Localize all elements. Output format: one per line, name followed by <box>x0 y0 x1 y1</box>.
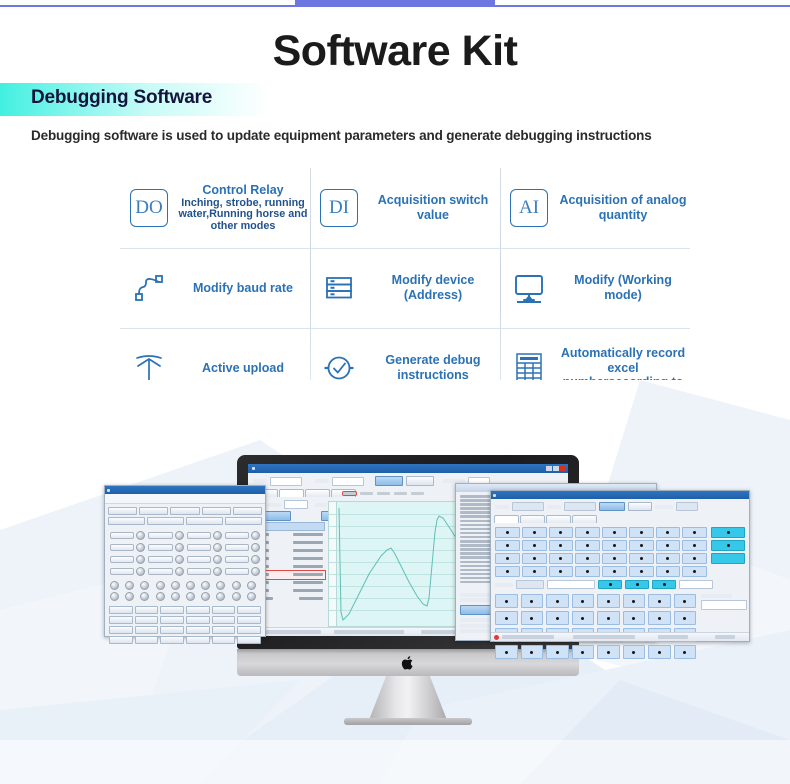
knob-control[interactable] <box>201 592 210 601</box>
mode-read-button[interactable] <box>625 580 649 589</box>
legend-entry[interactable] <box>394 492 407 495</box>
relay-button[interactable] <box>602 566 627 577</box>
window-statusbar <box>491 632 749 641</box>
knob-control[interactable] <box>136 543 145 552</box>
relay-button[interactable] <box>575 540 600 551</box>
server-stack-icon <box>310 271 368 305</box>
relay-button[interactable] <box>522 540 547 551</box>
form-button[interactable] <box>237 636 261 644</box>
switch-indicator[interactable] <box>521 594 544 608</box>
section-banner-label: Debugging Software <box>31 87 212 109</box>
form-button[interactable] <box>186 626 210 634</box>
di-badge-icon: DI <box>310 189 368 227</box>
knob-control[interactable] <box>175 531 184 540</box>
form-button[interactable] <box>109 636 133 644</box>
knob-control[interactable] <box>136 555 145 564</box>
toolbar-button[interactable] <box>139 507 168 515</box>
knob-control[interactable] <box>251 555 260 564</box>
relay-button[interactable] <box>629 553 654 564</box>
knob-control[interactable] <box>232 592 241 601</box>
do-badge-icon: DO <box>120 189 178 227</box>
knob-control[interactable] <box>251 567 260 576</box>
relay-output-section <box>491 524 749 577</box>
legend-entry[interactable] <box>360 492 373 495</box>
switch-indicator[interactable] <box>597 645 620 659</box>
feature-cell-modify-working-mode[interactable]: Modify (Working mode) <box>500 248 690 328</box>
status-company-text <box>259 630 321 634</box>
switch-indicator[interactable] <box>521 611 544 625</box>
form-button[interactable] <box>212 616 236 624</box>
form-button[interactable] <box>186 616 210 624</box>
legend-entry[interactable] <box>411 492 424 495</box>
titlebar-icon <box>107 489 110 492</box>
window-titlebar[interactable] <box>491 491 749 499</box>
relay-button[interactable] <box>575 527 600 538</box>
relay-button[interactable] <box>682 566 707 577</box>
knob-control[interactable] <box>136 531 145 540</box>
form-button[interactable] <box>186 636 210 644</box>
knob-control[interactable] <box>175 567 184 576</box>
knob-control[interactable] <box>213 531 222 540</box>
switch-indicator[interactable] <box>674 611 697 625</box>
knob-control[interactable] <box>216 581 225 590</box>
switch-input-section <box>491 592 749 661</box>
form-button[interactable] <box>135 636 159 644</box>
knob-control[interactable] <box>156 581 165 590</box>
status-indicator-icon <box>494 635 499 640</box>
feature-cell-acquisition-analog[interactable]: AI Acquisition of analog quantity <box>500 168 690 248</box>
form-button[interactable] <box>160 636 184 644</box>
knob-control[interactable] <box>213 555 222 564</box>
maximize-button[interactable] <box>553 466 559 471</box>
knob-control[interactable] <box>247 581 256 590</box>
switch-indicator[interactable] <box>674 645 697 659</box>
switch-indicator[interactable] <box>623 594 646 608</box>
switch-input-grid[interactable] <box>495 594 696 659</box>
baud-rate-curve-icon <box>120 271 178 305</box>
relay-button[interactable] <box>656 527 681 538</box>
refresh-button[interactable] <box>711 553 745 564</box>
relay-knob-grid-lower[interactable] <box>105 579 265 603</box>
status-company-text <box>502 635 554 639</box>
all-off-button[interactable] <box>711 540 745 551</box>
window-titlebar[interactable] <box>105 486 265 494</box>
section-subtitle: Debugging software is used to update equ… <box>31 128 652 143</box>
toolbar-button[interactable] <box>202 507 231 515</box>
top-accent-rule-thick <box>295 0 495 7</box>
knob-control[interactable] <box>110 592 119 601</box>
legend-entry-selected[interactable] <box>343 492 356 495</box>
knob-control[interactable] <box>251 543 260 552</box>
status-progress <box>334 630 404 634</box>
switch-indicator[interactable] <box>648 645 671 659</box>
form-button[interactable] <box>160 616 184 624</box>
port-select[interactable] <box>512 502 544 511</box>
knob-control[interactable] <box>171 592 180 601</box>
legend-entry[interactable] <box>377 492 390 495</box>
address-field[interactable] <box>676 502 698 511</box>
tab-analog-input[interactable] <box>546 515 571 523</box>
mode-save-button[interactable] <box>652 580 676 589</box>
relay-button[interactable] <box>656 553 681 564</box>
knob-control[interactable] <box>175 543 184 552</box>
monitor-stand-foot <box>344 718 472 725</box>
feature-label-modify-baud-rate: Modify baud rate <box>178 281 310 296</box>
form-button[interactable] <box>109 626 133 634</box>
tab-analog-input[interactable] <box>279 489 304 497</box>
panel-tabs[interactable] <box>491 514 749 524</box>
feature-label-active-upload: Active upload <box>178 361 310 376</box>
knob-control[interactable] <box>232 581 241 590</box>
feature-label-modify-working-mode: Modify (Working mode) <box>558 273 690 303</box>
knob-control[interactable] <box>201 581 210 590</box>
close-port-button[interactable] <box>406 476 434 486</box>
toolbar-button[interactable] <box>233 507 262 515</box>
knob-control[interactable] <box>251 531 260 540</box>
feature-cell-acquisition-switch-value[interactable]: DI Acquisition switch value <box>310 168 500 248</box>
toolbar-button[interactable] <box>108 517 145 525</box>
switch-indicator[interactable] <box>572 611 595 625</box>
knob-control[interactable] <box>186 581 195 590</box>
config-section-top <box>105 504 265 528</box>
switch-indicator[interactable] <box>495 645 518 659</box>
switch-side-fields[interactable] <box>701 594 745 659</box>
toolbar-button[interactable] <box>170 507 199 515</box>
relay-side-actions[interactable] <box>711 527 745 577</box>
monitor-icon <box>500 271 558 305</box>
form-button[interactable] <box>237 616 261 624</box>
feature-label-control-relay: Control Relay Inching, strobe, running w… <box>178 183 310 233</box>
mode-value-input[interactable] <box>547 580 595 589</box>
relay-button[interactable] <box>682 553 707 564</box>
apple-logo-icon <box>401 655 415 671</box>
knob-control[interactable] <box>156 592 165 601</box>
switch-count-input[interactable] <box>701 600 747 610</box>
titlebar-icon <box>252 467 255 470</box>
switch-indicator[interactable] <box>521 645 544 659</box>
all-on-button[interactable] <box>711 527 745 538</box>
knob-control[interactable] <box>216 592 225 601</box>
form-button[interactable] <box>160 626 184 634</box>
relay-knob-grid-upper[interactable] <box>105 528 265 579</box>
switch-indicator[interactable] <box>572 645 595 659</box>
toolbar-button[interactable] <box>108 507 137 515</box>
tab-relay-output[interactable] <box>494 515 519 523</box>
knob-control[interactable] <box>110 581 119 590</box>
knob-control[interactable] <box>213 543 222 552</box>
tab-switch-input[interactable] <box>305 489 330 497</box>
form-button[interactable] <box>212 636 236 644</box>
form-button[interactable] <box>237 606 261 614</box>
switch-indicator[interactable] <box>648 611 671 625</box>
relay-button[interactable] <box>575 566 600 577</box>
window-toolbar[interactable] <box>105 494 265 504</box>
tab-config[interactable] <box>572 515 597 523</box>
form-button[interactable] <box>109 616 133 624</box>
left-config-window[interactable] <box>104 485 266 637</box>
relay-button[interactable] <box>549 527 574 538</box>
relay-button[interactable] <box>682 540 707 551</box>
switch-indicator[interactable] <box>572 594 595 608</box>
sampling-interval-input[interactable] <box>284 500 308 509</box>
form-button[interactable] <box>212 626 236 634</box>
chart-legend[interactable] <box>343 492 424 495</box>
window-controls[interactable] <box>546 466 566 471</box>
relay-button[interactable] <box>629 566 654 577</box>
switch-indicator[interactable] <box>597 611 620 625</box>
relay-button[interactable] <box>656 566 681 577</box>
form-button[interactable] <box>160 606 184 614</box>
open-port-button[interactable] <box>375 476 403 486</box>
feature-cell-control-relay[interactable]: DO Control Relay Inching, strobe, runnin… <box>120 168 310 248</box>
relay-button[interactable] <box>629 540 654 551</box>
baud-select[interactable] <box>332 477 364 486</box>
relay-button[interactable] <box>602 540 627 551</box>
relay-button[interactable] <box>522 566 547 577</box>
form-button[interactable] <box>135 626 159 634</box>
form-button[interactable] <box>135 616 159 624</box>
right-button-window[interactable] <box>490 490 750 642</box>
relay-button[interactable] <box>549 566 574 577</box>
status-progress <box>573 635 635 639</box>
status-version <box>715 635 735 639</box>
switch-indicator[interactable] <box>546 645 569 659</box>
knob-control[interactable] <box>125 592 134 601</box>
open-port-button[interactable] <box>599 502 625 511</box>
mode-selector-row[interactable] <box>491 577 749 592</box>
knob-control[interactable] <box>140 592 149 601</box>
switch-indicator[interactable] <box>623 611 646 625</box>
relay-button[interactable] <box>495 553 520 564</box>
mode-select[interactable] <box>516 580 544 589</box>
status-message <box>658 635 688 639</box>
switch-indicator[interactable] <box>546 594 569 608</box>
knob-control[interactable] <box>125 581 134 590</box>
switch-indicator[interactable] <box>623 645 646 659</box>
relay-button[interactable] <box>495 566 520 577</box>
relay-button[interactable] <box>495 540 520 551</box>
feature-grid: DO Control Relay Inching, strobe, runnin… <box>120 168 690 408</box>
knob-control[interactable] <box>140 581 149 590</box>
relay-button[interactable] <box>495 527 520 538</box>
relay-button[interactable] <box>656 540 681 551</box>
knob-control[interactable] <box>213 567 222 576</box>
relay-button[interactable] <box>602 553 627 564</box>
relay-button[interactable] <box>602 527 627 538</box>
feature-label-generate-debug-instructions: Generate debug instructions <box>368 353 500 383</box>
knob-control[interactable] <box>136 567 145 576</box>
page-title: Software Kit <box>0 27 790 76</box>
relay-button[interactable] <box>549 540 574 551</box>
switch-indicator[interactable] <box>648 594 671 608</box>
switch-indicator[interactable] <box>674 594 697 608</box>
switch-indicator[interactable] <box>495 594 518 608</box>
relay-button[interactable] <box>629 527 654 538</box>
knob-control[interactable] <box>175 555 184 564</box>
port-selector-row[interactable] <box>491 499 749 514</box>
tab-switch-input[interactable] <box>520 515 545 523</box>
feature-cell-modify-baud-rate[interactable]: Modify baud rate <box>120 248 310 328</box>
form-button[interactable] <box>237 626 261 634</box>
toolbar-button[interactable] <box>225 517 262 525</box>
window-titlebar[interactable] <box>248 464 568 473</box>
mode-extra-input[interactable] <box>679 580 713 589</box>
switch-indicator[interactable] <box>546 611 569 625</box>
switch-indicator[interactable] <box>597 594 620 608</box>
ai-badge-icon: AI <box>500 189 558 227</box>
titlebar-icon <box>493 494 496 497</box>
relay-output-grid[interactable] <box>495 527 707 577</box>
minimize-button[interactable] <box>546 466 552 471</box>
form-button[interactable] <box>135 606 159 614</box>
feature-label-acquisition-analog: Acquisition of analog quantity <box>558 193 690 223</box>
form-button[interactable] <box>186 606 210 614</box>
switch-indicator[interactable] <box>495 611 518 625</box>
mode-apply-button[interactable] <box>598 580 622 589</box>
port-select[interactable] <box>270 477 302 486</box>
knob-control[interactable] <box>247 592 256 601</box>
config-section-bottom <box>105 603 265 647</box>
form-button[interactable] <box>212 606 236 614</box>
toolbar-button[interactable] <box>147 517 184 525</box>
feature-cell-modify-device[interactable]: Modify device (Address) <box>310 248 500 328</box>
relay-button[interactable] <box>522 553 547 564</box>
feature-label-acquisition-switch-value: Acquisition switch value <box>368 193 500 223</box>
relay-button[interactable] <box>522 527 547 538</box>
close-button[interactable] <box>560 466 566 471</box>
baud-select[interactable] <box>564 502 596 511</box>
form-button[interactable] <box>109 606 133 614</box>
knob-control[interactable] <box>171 581 180 590</box>
relay-button[interactable] <box>575 553 600 564</box>
knob-control[interactable] <box>186 592 195 601</box>
close-port-button[interactable] <box>628 502 652 511</box>
toolbar-button[interactable] <box>186 517 223 525</box>
relay-button[interactable] <box>549 553 574 564</box>
feature-label-modify-device: Modify device (Address) <box>368 273 500 303</box>
relay-button[interactable] <box>682 527 707 538</box>
